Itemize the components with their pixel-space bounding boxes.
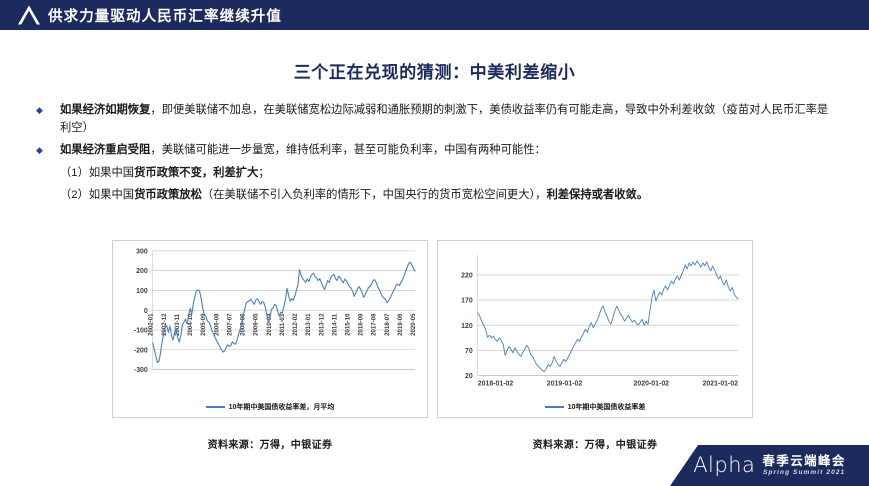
- chart-left-source: 资料来源：万得，中银证券: [112, 436, 428, 451]
- svg-text:-300: -300: [134, 367, 148, 374]
- svg-text:2018-07: 2018-07: [384, 313, 391, 336]
- chart-right-plot: 20701201702202018-01-022019-01-022020-01…: [438, 241, 752, 417]
- chart-right-legend-label: 10年期中美国债收益率差: [568, 402, 646, 412]
- summit-brand-alpha: Alpha: [693, 455, 755, 476]
- svg-text:70: 70: [465, 348, 473, 355]
- chart-left-plot: -300-200-10001002003002002-012002-122003…: [113, 241, 427, 417]
- svg-text:20: 20: [465, 373, 473, 380]
- bullet-item-1: ◆ 如果经济如期恢复，即便美联储不加息，在美联储宽松边际减弱和通胀预期的刺激下，…: [36, 102, 836, 137]
- svg-text:2013-12: 2013-12: [318, 313, 325, 336]
- bullet-item-2: ◆ 如果经济重启受阻，美联储可能进一步量宽，维持低利率，甚至可能负利率，中国有两…: [36, 142, 836, 160]
- bullet-item-1-rest: ，即便美联储不加息，在美联储宽松边际减弱和通胀预期的刺激下，美债收益率仍有可能走…: [60, 104, 828, 134]
- svg-text:2021-01-02: 2021-01-02: [703, 380, 739, 387]
- numbered-item-1-suffix: ；: [258, 167, 269, 179]
- header-title: 供求力量驱动人民币汇率继续升值: [48, 5, 282, 26]
- svg-text:2006-08: 2006-08: [213, 313, 220, 336]
- numbered-item-2-prefix: （2）如果中国: [60, 189, 134, 201]
- page-title: 三个正在兑现的猜测：中美利差缩小: [0, 58, 869, 83]
- svg-text:2018-01-02: 2018-01-02: [478, 380, 514, 387]
- summit-logo-badge: Alpha 春季云端峰会 Spring Summit 2021: [670, 445, 869, 486]
- chart-right-block: 20701201702202018-01-022019-01-022020-01…: [437, 240, 753, 451]
- bullet-item-1-lead: 如果经济如期恢复: [60, 104, 150, 116]
- summit-brand-en: Spring Summit 2021: [763, 470, 845, 477]
- numbered-item-2-middle: （在美联储不引入负利率的情形下，中国央行的货币宽松空间更大），: [202, 189, 547, 201]
- bullet-item-2-lead: 如果经济重启受阻: [60, 144, 150, 156]
- numbered-item-2-bold-2: 利差保持或者收敛。: [546, 189, 648, 201]
- header-bar: 供求力量驱动人民币汇率继续升值: [0, 0, 869, 30]
- numbered-item-2: （2）如果中国货币政策放松（在美联储不引入负利率的情形下，中国央行的货币宽松空间…: [60, 187, 836, 205]
- svg-text:2015-10: 2015-10: [344, 313, 351, 336]
- chart-left-legend: 10年期中美国债收益率差，月平均: [113, 402, 427, 412]
- svg-text:-200: -200: [134, 347, 148, 354]
- bullet-item-1-text: 如果经济如期恢复，即便美联储不加息，在美联储宽松边际减弱和通胀预期的刺激下，美债…: [60, 102, 836, 137]
- svg-text:-100: -100: [134, 328, 148, 335]
- bullet-item-2-text: 如果经济重启受阻，美联储可能进一步量宽，维持低利率，甚至可能负利率，中国有两种可…: [60, 142, 836, 160]
- svg-text:120: 120: [461, 323, 473, 330]
- svg-text:300: 300: [136, 248, 148, 255]
- svg-text:2019-06: 2019-06: [397, 313, 404, 336]
- svg-text:2002-01: 2002-01: [148, 313, 155, 336]
- svg-text:2012-02: 2012-02: [292, 313, 299, 336]
- svg-text:170: 170: [461, 298, 473, 305]
- diamond-bullet-icon: ◆: [36, 142, 60, 159]
- svg-text:2009-05: 2009-05: [253, 313, 260, 336]
- svg-text:2016-09: 2016-09: [358, 313, 365, 336]
- legend-line-swatch: [206, 406, 225, 408]
- summit-brand-cn: 春季云端峰会: [762, 455, 845, 468]
- svg-text:220: 220: [461, 273, 473, 280]
- numbered-item-1: （1）如果中国货币政策不变，利差扩大；: [60, 165, 836, 183]
- svg-text:2020-01-02: 2020-01-02: [634, 380, 670, 387]
- chart-left-frame: -300-200-10001002003002002-012002-122003…: [112, 240, 428, 418]
- svg-text:2007-07: 2007-07: [226, 313, 233, 336]
- svg-text:2017-08: 2017-08: [371, 313, 378, 336]
- svg-text:2020-05: 2020-05: [410, 313, 417, 336]
- numbered-item-2-bold-1: 货币政策放松: [134, 189, 202, 201]
- chart-left-legend-label: 10年期中美国债收益率差，月平均: [229, 402, 335, 412]
- svg-text:2019-01-02: 2019-01-02: [547, 380, 583, 387]
- diamond-bullet-icon: ◆: [36, 102, 60, 119]
- chart-right-legend: 10年期中美国债收益率差: [438, 402, 752, 412]
- triangle-chevron-logo-icon: [14, 0, 44, 30]
- numbered-item-1-prefix: （1）如果中国: [60, 167, 134, 179]
- legend-line-swatch: [545, 406, 564, 408]
- svg-text:2013-01: 2013-01: [305, 313, 312, 336]
- svg-text:200: 200: [136, 268, 148, 275]
- bullet-item-2-rest: ，美联储可能进一步量宽，维持低利率，甚至可能负利率，中国有两种可能性：: [150, 144, 545, 156]
- body-content: ◆ 如果经济如期恢复，即便美联储不加息，在美联储宽松边际减弱和通胀预期的刺激下，…: [36, 102, 836, 210]
- svg-text:100: 100: [136, 288, 148, 295]
- chart-left-block: -300-200-10001002003002002-012002-122003…: [112, 240, 428, 451]
- summit-brand-cn-wrap: 春季云端峰会 Spring Summit 2021: [762, 455, 845, 477]
- svg-text:2011-03: 2011-03: [279, 313, 286, 336]
- svg-text:2014-11: 2014-11: [331, 313, 338, 336]
- numbered-item-1-bold: 货币政策不变，利差扩大: [134, 167, 258, 179]
- chart-right-frame: 20701201702202018-01-022019-01-022020-01…: [437, 240, 753, 418]
